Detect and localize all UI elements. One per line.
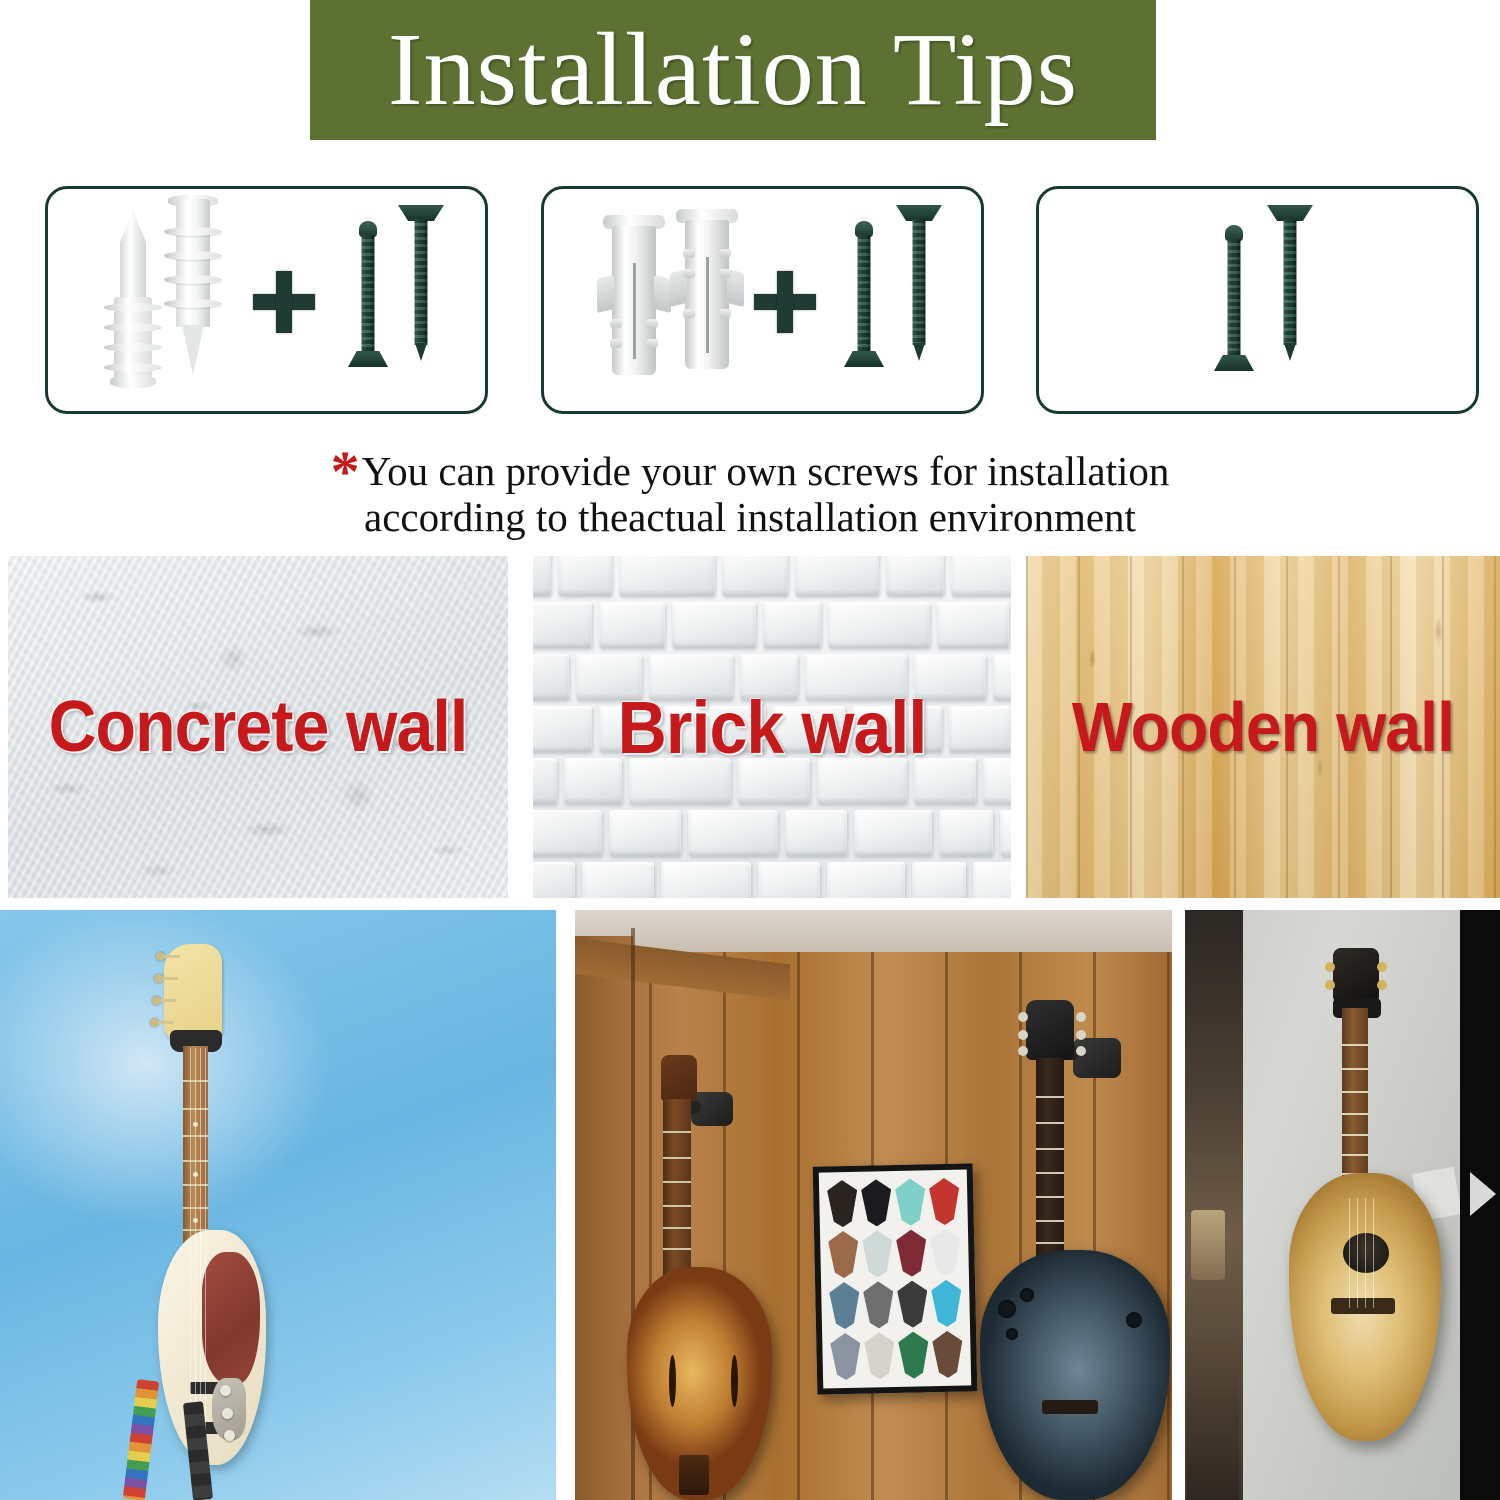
pan-head-screw-icon <box>348 221 388 371</box>
pointed-spike-anchor-icon <box>106 211 160 396</box>
guitar-pick <box>930 1229 961 1277</box>
guitar-pick-poster <box>813 1163 978 1394</box>
ribbed-expansion-plug-icon <box>679 209 735 369</box>
page-title: Installation Tips <box>388 18 1078 122</box>
hardware-box-wood <box>1036 186 1479 414</box>
pan-head-screw-icon <box>844 221 884 371</box>
plus-sign-icon <box>754 271 816 333</box>
installation-note: *You can provide your own screws for ins… <box>0 448 1500 540</box>
photo-bass-blue-wall <box>0 910 556 1500</box>
wall-swatch-brick: Brick wall <box>533 556 1011 898</box>
guitar-pick <box>828 1231 859 1279</box>
guitar-pick <box>931 1280 962 1328</box>
next-arrow-icon <box>1470 1172 1496 1216</box>
cylindrical-expansion-plug-icon <box>606 215 662 375</box>
page-title-banner: Installation Tips <box>310 0 1156 140</box>
wall-label-concrete: Concrete wall <box>28 686 488 768</box>
hardware-box-concrete <box>45 186 488 414</box>
guitar-pick <box>896 1229 927 1277</box>
wall-swatch-wooden: Wooden wall <box>1026 556 1500 898</box>
hardware-boxes-row <box>0 186 1500 414</box>
installation-tips-infographic: Installation Tips <box>0 0 1500 1500</box>
wall-label-wooden: Wooden wall <box>1045 687 1481 767</box>
pan-head-screw-icon <box>1214 225 1254 375</box>
photo-acoustic-gray-wall <box>1185 910 1500 1500</box>
asterisk-icon: * <box>331 439 360 504</box>
flat-head-screw-icon <box>896 205 942 367</box>
guitar-pick <box>862 1230 893 1278</box>
guitar-pick <box>827 1180 858 1228</box>
note-line-2: according to theactual installation envi… <box>0 494 1500 540</box>
note-line-1: You can provide your own screws for inst… <box>362 448 1170 494</box>
guitar-pick <box>863 1281 894 1329</box>
guitar-pick <box>829 1282 860 1330</box>
archtop-guitar <box>627 1055 772 1500</box>
guitar-pick <box>898 1331 929 1379</box>
guitar-pick <box>929 1178 960 1226</box>
wall-label-brick: Brick wall <box>552 685 992 770</box>
photo-wood-panel-room <box>575 910 1172 1500</box>
flat-head-screw-icon <box>1267 205 1313 367</box>
wall-swatch-concrete: Concrete wall <box>8 556 508 898</box>
guitar-pick <box>830 1333 861 1381</box>
guitar-pick <box>932 1331 963 1379</box>
bass-guitar <box>150 930 300 1500</box>
conical-threaded-anchor-icon <box>166 199 220 374</box>
example-photos-row <box>0 910 1500 1500</box>
guitar-pick <box>895 1178 926 1226</box>
ovation-guitar <box>980 1000 1170 1500</box>
hardware-box-brick <box>541 186 984 414</box>
flat-head-screw-icon <box>398 205 444 367</box>
guitar-pick <box>897 1280 928 1328</box>
wall-types-row: Concrete wall Brick wall Wooden wall <box>0 556 1500 898</box>
plus-sign-icon <box>253 271 315 333</box>
guitar-pick <box>861 1179 892 1227</box>
guitar-pick <box>864 1332 895 1380</box>
acoustic-guitar <box>1285 948 1445 1468</box>
